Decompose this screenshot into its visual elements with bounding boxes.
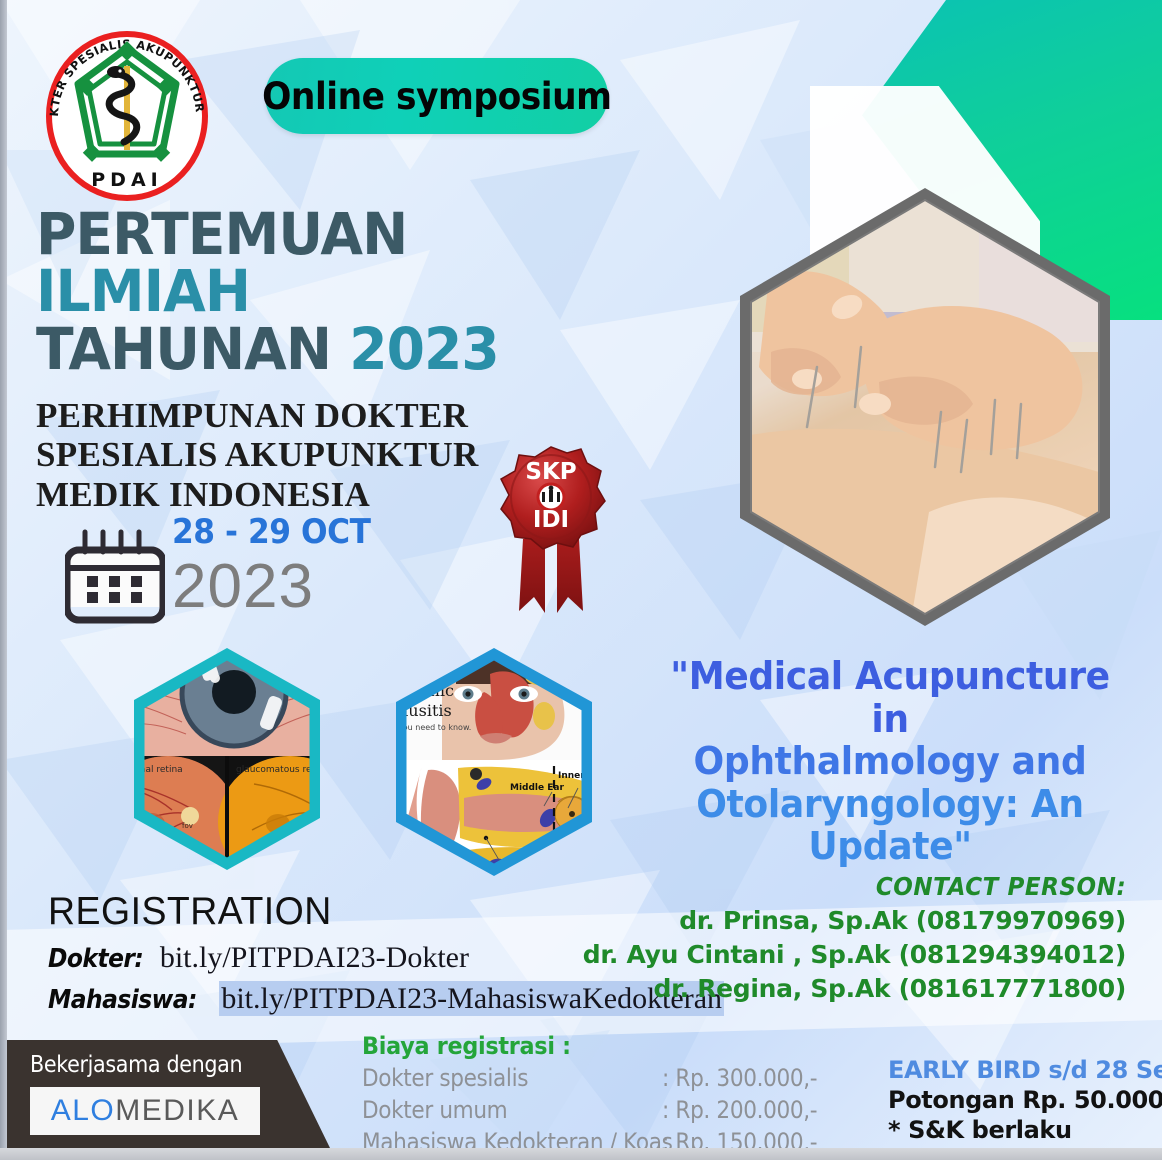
fee-name-general: Dokter umum [362, 1096, 632, 1124]
skp-idi-seal-svg: SKP IDI [493, 443, 609, 621]
fee-amount-specialist: : Rp. 300.000,- [662, 1064, 817, 1092]
alomedika-medika: MEDIKA [115, 1094, 239, 1128]
early-bird-discount: Potongan Rp. 50.000,- [888, 1086, 1162, 1114]
hexagon-acupuncture-photo [729, 182, 1121, 632]
symposium-title-line-3: Otolaryngology: An Update" [653, 783, 1128, 868]
early-bird-headline: EARLY BIRD s/d 28 Sept: [888, 1056, 1162, 1084]
symposium-title-line-2: Ophthalmology and [653, 740, 1128, 783]
oph-label-normal: normal retina [122, 765, 183, 775]
org-line-1: PERHIMPUNAN DOKTER [36, 396, 636, 435]
hexagon-ophthalmology-photo: normal retina glaucomatous retina fov fo… [112, 638, 342, 883]
registration-link-dokter[interactable]: bit.ly/PITPDAI23-Dokter [160, 941, 469, 974]
online-symposium-label: Online symposium [262, 75, 611, 118]
hexagon-ent-svg: hronic nusitis you need to know. [372, 638, 617, 888]
contact-person-2: dr. Ayu Cintani , Sp.Ak (081294394012) [583, 940, 1126, 969]
ent-caption-subtitle: you need to know. [398, 723, 471, 732]
calendar-icon-svg [65, 522, 165, 624]
pdai-logo: PERHIMPUNAN DOKTER SPESIALIS AKUPUNKTUR … [36, 22, 218, 207]
registration-label-dokter: Dokter: [48, 944, 143, 974]
registration-label-mahasiswa: Mahasiswa: [48, 985, 197, 1015]
fee-name-specialist: Dokter spesialis [362, 1064, 632, 1092]
skp-idi-seal: SKP IDI [493, 443, 609, 621]
online-symposium-badge: Online symposium [265, 58, 608, 134]
hexagon-acupuncture-svg [729, 182, 1121, 632]
svg-text:fov: fov [310, 822, 321, 830]
hexagon-ophthalmology-svg: normal retina glaucomatous retina fov fo… [112, 638, 342, 883]
symposium-title: "Medical Acupuncture in Ophthalmology an… [653, 655, 1128, 868]
headline-line-2: TAHUNAN 2023 [36, 321, 606, 378]
contact-person-3: dr. Regina, Sp.Ak (081617771800) [583, 974, 1126, 1003]
seal-skp-text: SKP [525, 459, 576, 485]
partner-label: Bekerjasama dengan [30, 1052, 242, 1078]
calendar-icon [65, 522, 165, 624]
bottom-edge-border [0, 1148, 1162, 1160]
svg-text:fov: fov [182, 822, 193, 830]
headline-year: 2023 [349, 315, 499, 383]
symposium-title-line-1: "Medical Acupuncture in [653, 655, 1128, 740]
event-date-year: 2023 [172, 556, 388, 618]
left-edge-border [0, 0, 7, 1160]
alomedika-alo: ALO [51, 1094, 116, 1128]
early-bird-terms: * S&K berlaku [888, 1116, 1162, 1144]
fee-row: Dokter umum : Rp. 200.000,- [362, 1096, 842, 1124]
pdai-logo-svg: PERHIMPUNAN DOKTER SPESIALIS AKUPUNKTUR … [36, 22, 218, 207]
event-date-block: 28 - 29 OCT 2023 [172, 512, 388, 618]
event-date-range: 28 - 29 OCT [172, 512, 371, 552]
fees-title: Biaya registrasi : [362, 1032, 808, 1060]
contact-title: CONTACT PERSON: [626, 872, 1126, 901]
alomedika-logo: ALOMEDIKA [30, 1087, 260, 1135]
contact-block: CONTACT PERSON: dr. Prinsa, Sp.Ak (08179… [583, 872, 1126, 1003]
pdai-acronym: PDAI [91, 169, 162, 191]
seal-idi-text: IDI [533, 507, 569, 533]
early-bird-block: EARLY BIRD s/d 28 Sept: Potongan Rp. 50.… [888, 1056, 1162, 1144]
hexagon-ent-photo: hronic nusitis you need to know. [372, 638, 617, 888]
headline-line-1: PERTEMUAN ILMIAH [36, 206, 606, 321]
headline-tahunan: TAHUNAN [36, 315, 349, 383]
fees-block: Biaya registrasi : Dokter spesialis : Rp… [362, 1032, 842, 1156]
partner-banner: Bekerjasama dengan ALOMEDIKA [0, 1040, 330, 1148]
poster-canvas: PERHIMPUNAN DOKTER SPESIALIS AKUPUNKTUR … [0, 0, 1162, 1160]
fee-amount-general: : Rp. 200.000,- [662, 1096, 817, 1124]
ent-label-middle-ear: Middle Ear [510, 783, 564, 793]
contact-person-1: dr. Prinsa, Sp.Ak (08179970969) [583, 906, 1126, 935]
fee-row: Dokter spesialis : Rp. 300.000,- [362, 1064, 842, 1092]
